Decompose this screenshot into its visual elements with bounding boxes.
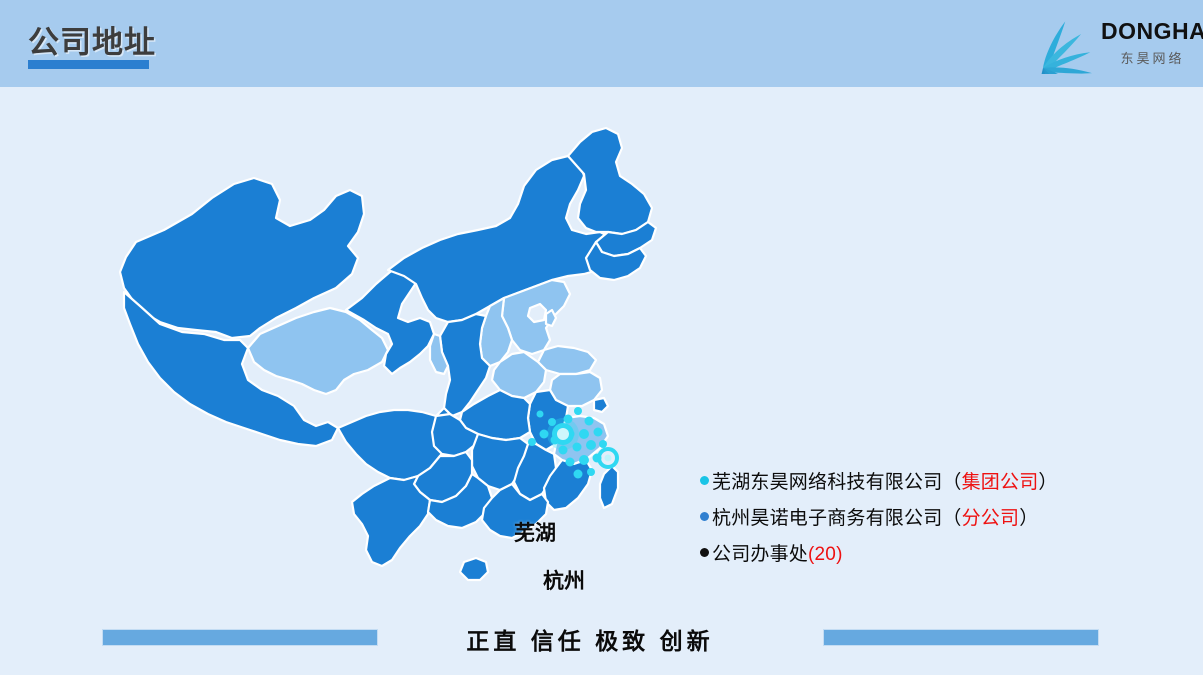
office-dot <box>537 411 544 418</box>
footer-slogan: 正直 信任 极致 创新 <box>440 622 740 656</box>
office-dot <box>528 438 536 446</box>
list-item[interactable]: 芜湖东昊网络科技有限公司（集团公司） <box>700 462 1130 498</box>
feather-fan-icon <box>1035 8 1105 74</box>
legend-item-accent: (20) <box>808 544 843 565</box>
office-dot <box>594 428 603 437</box>
logo-name: DONGHAO <box>1101 20 1201 43</box>
legend-close-paren: ） <box>1038 472 1057 493</box>
legend-open-paren: （ <box>942 508 961 529</box>
office-dot <box>574 470 583 479</box>
legend-bullet-icon <box>700 476 709 485</box>
office-dot <box>566 458 575 467</box>
page-title: 公司地址 <box>28 17 156 62</box>
china-map[interactable]: 芜湖 杭州 <box>100 122 680 612</box>
marker-hangzhou <box>599 449 617 467</box>
legend-item-label: 公司办事处 <box>712 544 808 565</box>
slide-root: 公司地址 <box>0 0 1203 675</box>
header-band: 公司地址 <box>0 0 1203 87</box>
office-dot <box>585 417 594 426</box>
legend-item-accent: 分公司 <box>962 508 1020 529</box>
office-dot <box>587 468 595 476</box>
office-markers <box>100 122 680 612</box>
office-dot <box>579 455 589 465</box>
city-label-wuhu: 芜湖 <box>514 517 556 547</box>
logo-subtitle: 东昊网络 <box>1101 48 1201 67</box>
marker-wuhu <box>547 418 579 450</box>
legend-bullet-icon <box>700 548 709 557</box>
legend-item-label: 芜湖东昊网络科技有限公司 <box>712 472 942 493</box>
company-logo: DONGHAO 东昊网络 <box>1005 6 1195 78</box>
footer-bar-right <box>823 629 1099 646</box>
list-item[interactable]: 杭州昊诺电子商务有限公司（分公司） <box>700 498 1130 534</box>
legend-item-accent: 集团公司 <box>962 472 1039 493</box>
office-dot <box>579 429 589 439</box>
legend-open-paren: （ <box>942 472 961 493</box>
office-dot <box>586 440 596 450</box>
logo-text-block: DONGHAO 东昊网络 <box>1101 20 1201 67</box>
legend-close-paren: ） <box>1019 508 1038 529</box>
legend-item-label: 杭州昊诺电子商务有限公司 <box>712 508 942 529</box>
office-dot <box>574 407 582 415</box>
legend-bullet-icon <box>700 512 709 521</box>
list-item[interactable]: 公司办事处(20) <box>700 534 1130 570</box>
city-label-hangzhou: 杭州 <box>543 565 585 595</box>
legend-list: 芜湖东昊网络科技有限公司（集团公司） 杭州昊诺电子商务有限公司（分公司） 公司办… <box>700 462 1130 570</box>
footer-bar-left <box>102 629 378 646</box>
title-underline <box>28 60 149 69</box>
office-dot <box>599 440 607 448</box>
